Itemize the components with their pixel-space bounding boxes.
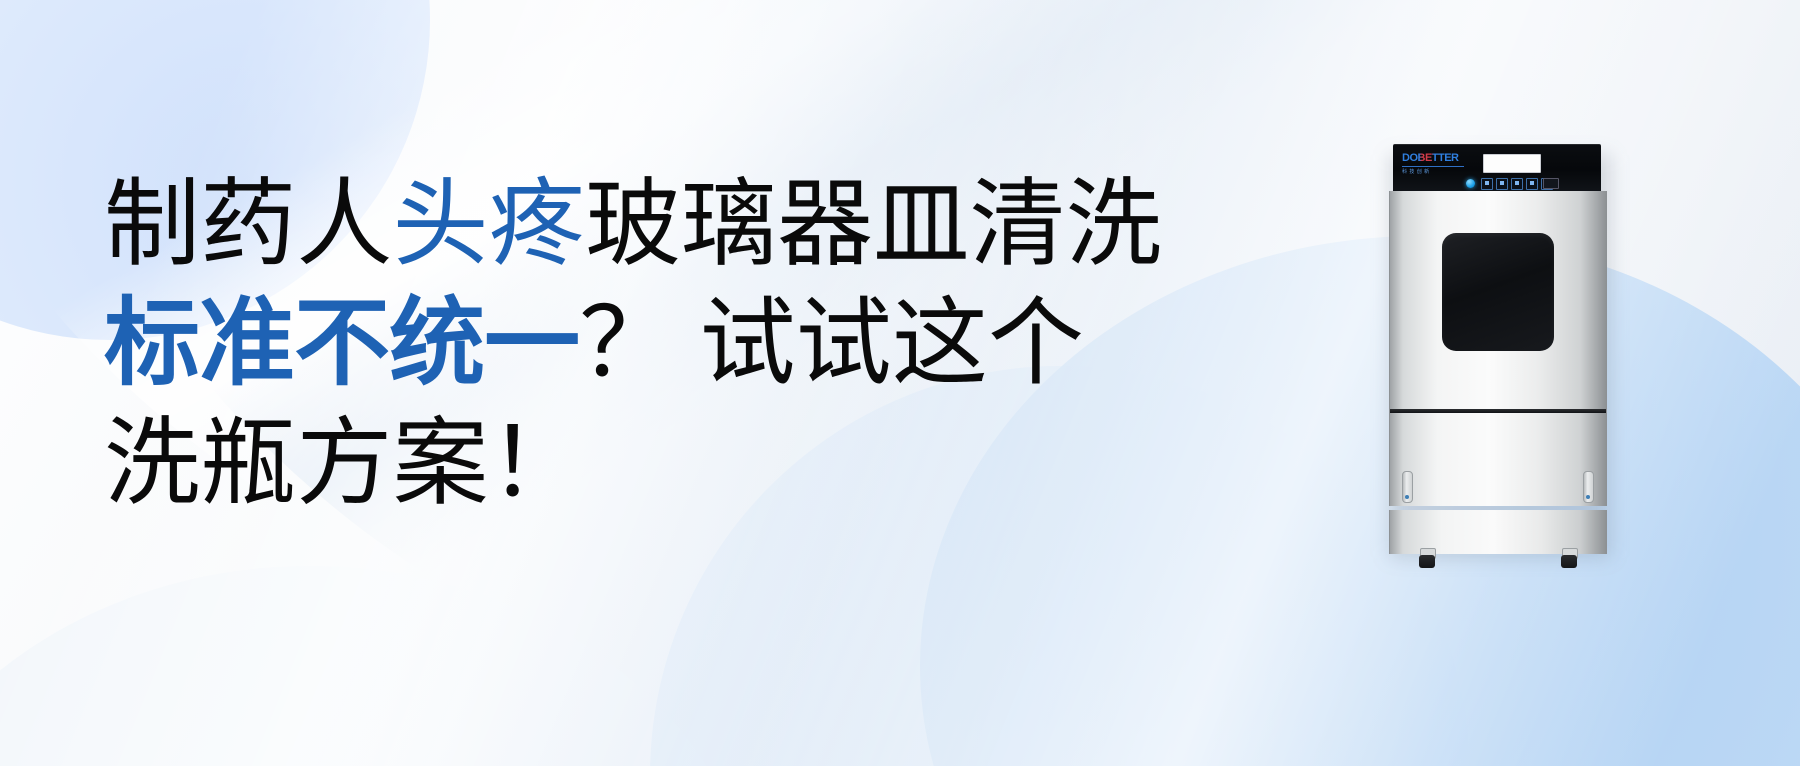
brand-logo-wordmark: DOBETTER — [1402, 153, 1468, 164]
chamber-door-window — [1442, 233, 1554, 351]
panel-key-1[interactable] — [1481, 178, 1493, 190]
decorative-circle-bottom-left — [0, 566, 760, 766]
headline-block: 制药人头疼玻璃器皿清洗 标准不统一？ 试试这个 洗瓶方案！ — [104, 168, 1184, 520]
panel-aux-key[interactable] — [1543, 178, 1559, 189]
panel-key-3[interactable] — [1511, 178, 1523, 190]
brand-logo-rule — [1402, 166, 1464, 167]
panel-key-2[interactable] — [1496, 178, 1508, 190]
promo-banner: 制药人头疼玻璃器皿清洗 标准不统一？ 试试这个 洗瓶方案！ DOBETTER 科… — [0, 0, 1800, 766]
door-handle-left[interactable] — [1402, 471, 1413, 503]
brand-logo: DOBETTER 科 技 创 新 — [1402, 153, 1468, 173]
headline-line-3: 洗瓶方案！ — [104, 407, 1184, 520]
body-seam-divider — [1390, 409, 1606, 413]
handle-lock-dot — [1586, 495, 1590, 499]
lcd-display — [1483, 154, 1541, 173]
headline-seg-1b-highlight: 头疼 — [392, 171, 584, 278]
power-led-icon — [1466, 179, 1475, 188]
panel-key-4[interactable] — [1526, 178, 1538, 190]
control-panel: DOBETTER 科 技 创 新 — [1393, 144, 1601, 191]
headline-seg-1c: 玻璃器皿清洗 — [585, 171, 1162, 278]
caster-wheel — [1561, 555, 1577, 568]
machine-upper-body — [1389, 191, 1607, 506]
brand-logo-subtitle: 科 技 创 新 — [1402, 168, 1468, 175]
headline-seg-2a-highlight: 标准不统一 — [104, 290, 579, 397]
headline-seg-2b: ？ 试试这个 — [579, 290, 1084, 397]
caster-wheel-left — [1416, 548, 1438, 568]
product-image-glassware-washer: DOBETTER 科 技 创 新 — [1383, 144, 1613, 564]
headline-line-2: 标准不统一？ 试试这个 — [104, 287, 1184, 400]
caster-wheel-right — [1558, 548, 1580, 568]
door-handle-right[interactable] — [1583, 471, 1594, 503]
handle-lock-dot — [1405, 495, 1409, 499]
headline-line-1: 制药人头疼玻璃器皿清洗 — [104, 168, 1184, 281]
caster-wheel — [1419, 555, 1435, 568]
headline-seg-3a: 洗瓶方案！ — [104, 410, 585, 517]
headline-seg-1a: 制药人 — [104, 171, 392, 278]
machine-lower-body — [1389, 510, 1607, 554]
